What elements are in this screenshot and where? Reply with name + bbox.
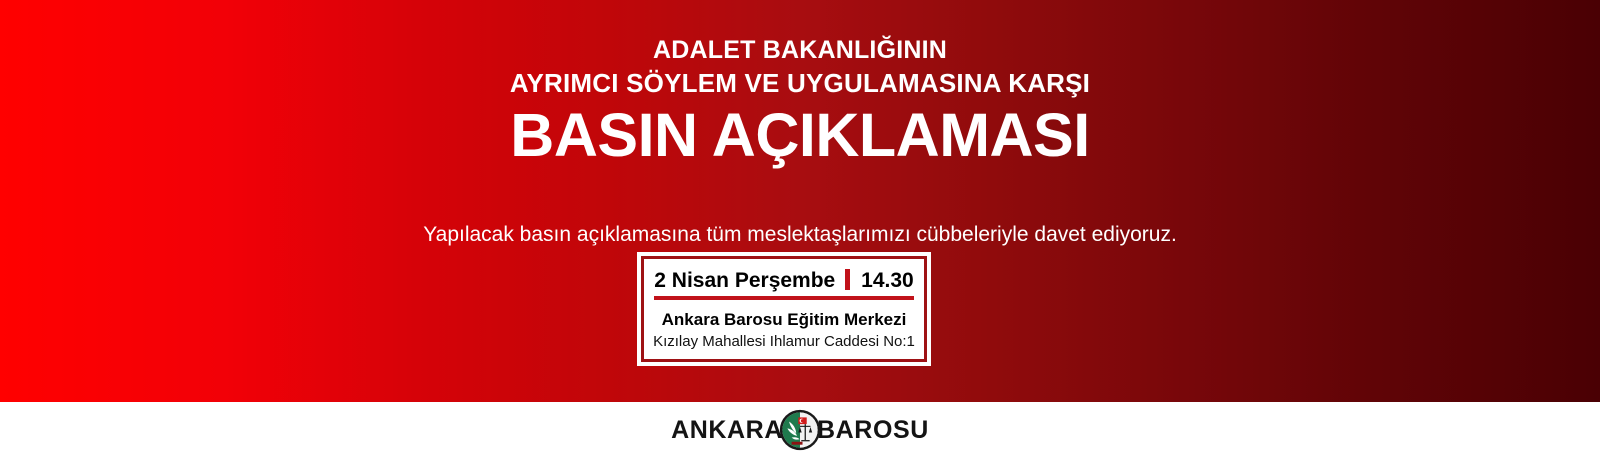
event-address: Kızılay Mahallesi Ihlamur Caddesi No:1 [644,332,924,352]
date-underline-rule [654,296,913,300]
logo-text-barosu: BAROSU [817,416,929,444]
event-details-box: 2 Nisan Perşembe 14.30 Ankara Barosu Eği… [637,252,931,366]
date-time-separator-icon [845,269,850,290]
ankara-barosu-emblem-icon [779,409,821,451]
event-date: 2 Nisan Perşembe [654,269,835,292]
event-date-time-row: 2 Nisan Perşembe 14.30 [654,268,913,305]
event-details-inner-frame: 2 Nisan Perşembe 14.30 Ankara Barosu Eği… [641,256,927,362]
headline-title: BASIN AÇIKLAMASI [0,102,1600,168]
invitation-text: Yapılacak basın açıklamasına tüm meslekt… [0,222,1600,248]
event-venue: Ankara Barosu Eğitim Merkezi [644,309,924,331]
headline-block: ADALET BAKANLIĞININ AYRIMCI SÖYLEM VE UY… [0,34,1600,168]
event-time: 14.30 [861,269,914,292]
footer-bar: ANKARA [0,402,1600,458]
press-release-banner: ADALET BAKANLIĞININ AYRIMCI SÖYLEM VE UY… [0,0,1600,458]
logo-text-ankara: ANKARA [671,416,783,444]
ankara-barosu-logo: ANKARA [0,402,1600,458]
headline-line-2: AYRIMCI SÖYLEM VE UYGULAMASINA KARŞI [0,66,1600,100]
headline-line-1: ADALET BAKANLIĞININ [0,34,1600,66]
